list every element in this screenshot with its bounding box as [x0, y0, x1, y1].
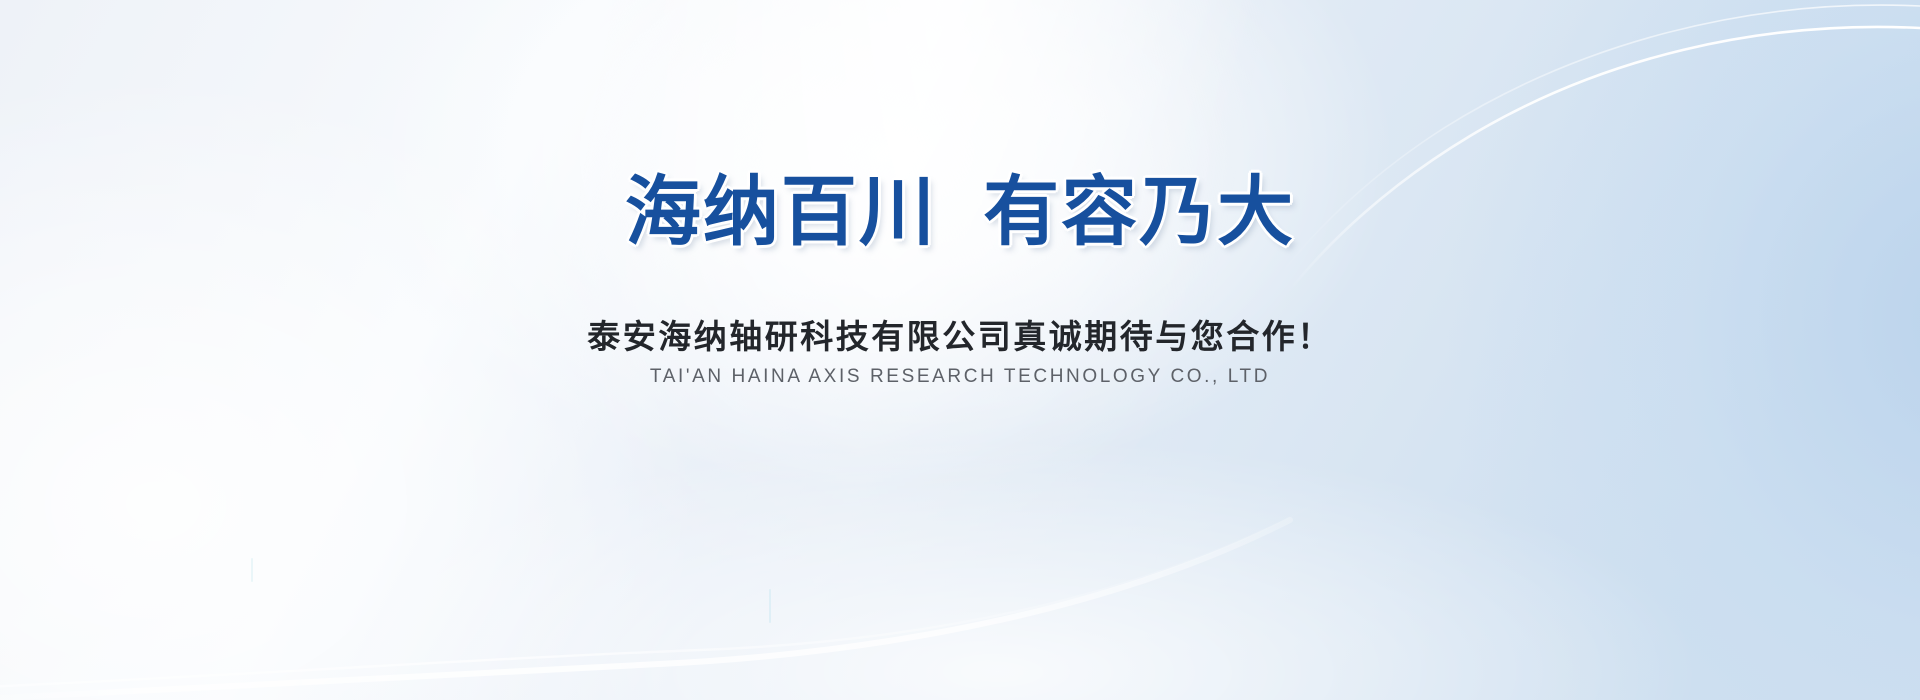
banner-subtitle-chinese: 泰安海纳轴研科技有限公司真诚期待与您合作！ [0, 313, 1920, 361]
banner-subtitle-english: TAI'AN HAINA AXIS RESEARCH TECHNOLOGY CO… [0, 362, 1920, 392]
hero-banner: 海纳百川 有容乃大 泰安海纳轴研科技有限公司真诚期待与您合作！ TAI'AN H… [0, 0, 1920, 700]
banner-headline: 海纳百川 有容乃大 [0, 163, 1920, 263]
banner-content: 海纳百川 有容乃大 泰安海纳轴研科技有限公司真诚期待与您合作！ TAI'AN H… [0, 0, 1920, 700]
